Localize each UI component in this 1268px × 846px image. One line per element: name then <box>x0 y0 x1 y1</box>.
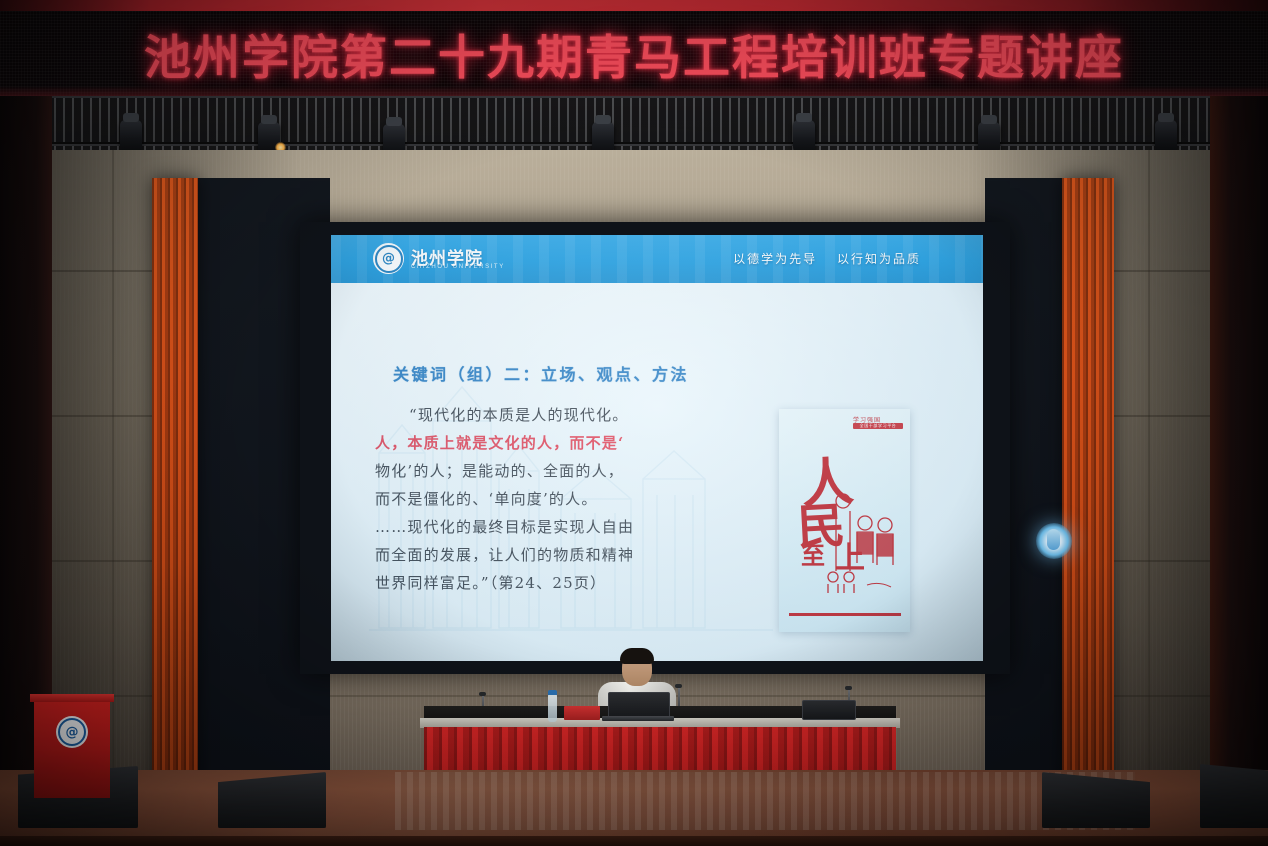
stage-right-dark-edge <box>1210 96 1268 796</box>
speaker-hair <box>620 648 654 664</box>
poster-figures-illustration <box>823 489 903 599</box>
laptop-base <box>602 716 674 721</box>
slide-motto-right: 以行知为品质 <box>837 252 921 266</box>
stage-front-lip <box>0 836 1268 846</box>
banner-text-container: 池州学院第二十九期青马工程培训班专题讲座 <box>0 11 1268 96</box>
slide-motto-left: 以德学为先导 <box>733 252 817 266</box>
stage-left-dark-edge <box>0 96 52 796</box>
water-bottle-cap <box>548 690 557 695</box>
quote-line: 而全面的发展，让人们的物质和精神 <box>375 541 705 569</box>
poster-badge-title: 学习强国 <box>853 416 903 423</box>
university-emblem-icon: @ <box>56 716 88 748</box>
lectern-podium-top <box>30 694 114 702</box>
quote-line: ……现代化的最终目标是实现人自由 <box>375 513 705 541</box>
slide-poster-image: 学习强国 全国干部学习平台 人 民 至 上 <box>779 409 910 632</box>
projector-status-light-core <box>1047 529 1060 550</box>
stage-spotlight-icon <box>793 120 815 154</box>
university-logo-icon: @ <box>373 243 404 274</box>
banner-top-red-strip <box>0 0 1268 11</box>
quote-line: 人，本质上就是文化的人，而不是‘ <box>375 429 705 457</box>
poster-char-zhi: 至 <box>801 536 825 571</box>
speaker-nameplate <box>564 706 600 720</box>
slide-keyword-heading: 关键词（组）二：立场、观点、方法 <box>393 361 689 385</box>
stage-monitor-speaker <box>1200 764 1268 828</box>
stage-curtain-right <box>1062 178 1114 798</box>
quote-line: 而不是僵化的、‘单向度’的人。 <box>375 485 705 513</box>
lighting-truss-upper <box>0 96 1268 144</box>
slide-header-banner: @ 池州学院 CHIZHOU UNIVERSITY 以德学为先导 以行知为品质 <box>331 235 983 283</box>
lectern-podium <box>34 700 110 798</box>
quote-line: 世界同样富足。”（第24、25页） <box>375 569 705 597</box>
poster-bottom-rule <box>789 613 901 616</box>
water-bottle <box>548 694 557 722</box>
secondary-laptop <box>802 700 856 720</box>
slide-university-pinyin: CHIZHOU UNIVERSITY <box>411 264 505 270</box>
lecture-hall-scene: 池州学院第二十九期青马工程培训班专题讲座 <box>0 0 1268 846</box>
slide-quote-block: “现代化的本质是人的现代化。 人，本质上就是文化的人，而不是‘ 物化’的人；是能… <box>375 401 705 597</box>
quote-line: “现代化的本质是人的现代化。 <box>375 401 705 429</box>
stage-spotlight-icon <box>120 120 142 154</box>
microphone-head-icon <box>479 692 486 696</box>
stage-spotlight-icon <box>1155 120 1177 154</box>
slide-motto: 以德学为先导 以行知为品质 <box>719 250 921 267</box>
university-emblem-glyph: @ <box>58 718 86 746</box>
stage-curtain-left <box>152 178 198 798</box>
led-banner: 池州学院第二十九期青马工程培训班专题讲座 <box>0 0 1268 96</box>
poster-badge-subtitle: 全国干部学习平台 <box>853 423 903 429</box>
microphone-head-icon <box>845 686 852 690</box>
banner-title: 池州学院第二十九期青马工程培训班专题讲座 <box>144 19 1124 88</box>
slide-body: 关键词（组）二：立场、观点、方法 “现代化的本质是人的现代化。 人，本质上就是文… <box>331 283 983 661</box>
poster-badge: 学习强国 全国干部学习平台 <box>853 416 903 429</box>
poster-badge-bar: 全国干部学习平台 <box>853 423 903 429</box>
university-logo-glyph: @ <box>375 245 403 273</box>
banner-bottom-glow <box>0 86 1268 96</box>
microphone-head-icon <box>675 684 682 688</box>
quote-line: 物化’的人；是能动的、全面的人， <box>375 457 705 485</box>
projection-screen: @ 池州学院 CHIZHOU UNIVERSITY 以德学为先导 以行知为品质 <box>331 235 983 661</box>
